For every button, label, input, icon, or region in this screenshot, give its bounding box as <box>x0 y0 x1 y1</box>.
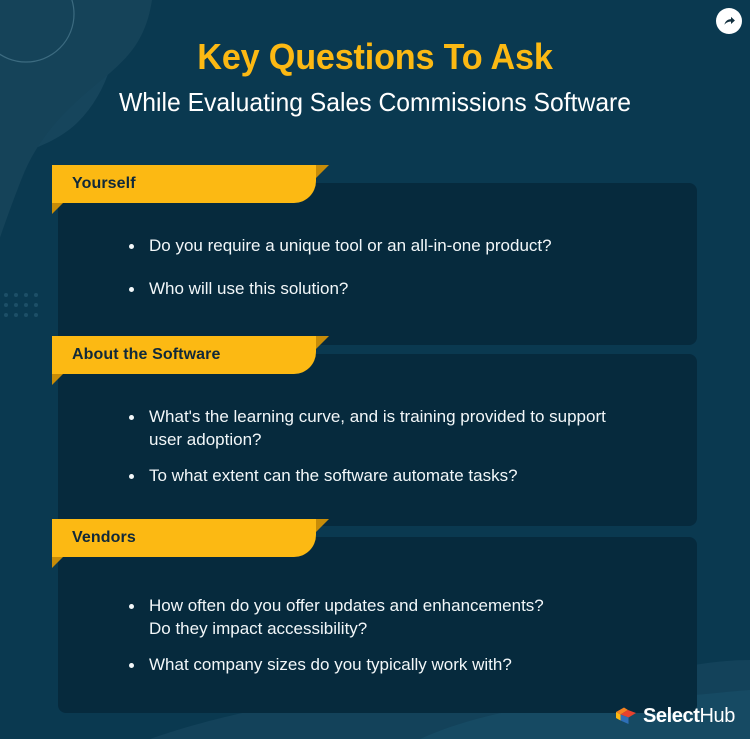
banner-fold-top-right-icon <box>316 336 329 349</box>
bullet-text: What's the learning curve, and is traini… <box>149 407 606 426</box>
section-vendors: Vendors How often do you offer updates a… <box>52 519 687 677</box>
list-item: Do you require a unique tool or an all-i… <box>127 235 687 258</box>
section-banner-yourself[interactable]: Yourself <box>52 165 316 203</box>
bullet-text: Who will use this solution? <box>149 279 348 298</box>
section-label: About the Software <box>72 346 220 364</box>
list-item: How often do you offer updates and enhan… <box>127 595 687 640</box>
bullet-list: Do you require a unique tool or an all-i… <box>127 235 687 300</box>
bullet-text-line2: Do they impact accessibility? <box>149 618 687 641</box>
section-yourself: Yourself Do you require a unique tool or… <box>52 165 687 300</box>
section-banner-about-the-software[interactable]: About the Software <box>52 336 316 374</box>
list-item: To what extent can the software automate… <box>127 465 707 488</box>
selecthub-logo[interactable]: SelectHub <box>615 706 735 726</box>
bullet-text: What company sizes do you typically work… <box>149 655 512 674</box>
bullet-text-line2: user adoption? <box>149 429 707 452</box>
logo-text-light: Hub <box>700 705 736 727</box>
banner-fold-top-right-icon <box>316 165 329 178</box>
logo-text-bold: Select <box>643 705 700 727</box>
section-label: Vendors <box>72 529 136 547</box>
selecthub-cube-icon <box>615 706 637 726</box>
share-arrow-icon <box>722 14 737 29</box>
deco-dot-grid <box>4 293 38 317</box>
bullet-list: What's the learning curve, and is traini… <box>127 406 707 488</box>
bullet-text: To what extent can the software automate… <box>149 466 518 485</box>
list-item: What company sizes do you typically work… <box>127 654 687 677</box>
logo-wordmark: SelectHub <box>643 706 735 726</box>
header-block: Key Questions To Ask While Evaluating Sa… <box>0 36 750 119</box>
list-item: What's the learning curve, and is traini… <box>127 406 707 451</box>
share-button[interactable] <box>716 8 742 34</box>
list-item: Who will use this solution? <box>127 278 687 301</box>
bullet-text: Do you require a unique tool or an all-i… <box>149 236 552 255</box>
bullet-list: How often do you offer updates and enhan… <box>127 595 687 677</box>
banner-fold-bottom-left-icon <box>52 557 63 568</box>
banner-fold-bottom-left-icon <box>52 374 63 385</box>
banner-fold-bottom-left-icon <box>52 203 63 214</box>
banner-fold-top-right-icon <box>316 519 329 532</box>
section-banner-vendors[interactable]: Vendors <box>52 519 316 557</box>
page-title: Key Questions To Ask <box>19 36 732 77</box>
section-about-the-software: About the Software What's the learning c… <box>52 336 707 488</box>
section-label: Yourself <box>72 175 136 193</box>
infographic-canvas: Key Questions To Ask While Evaluating Sa… <box>0 0 750 739</box>
bullet-text: How often do you offer updates and enhan… <box>149 596 544 615</box>
page-subtitle: While Evaluating Sales Commissions Softw… <box>19 87 732 118</box>
